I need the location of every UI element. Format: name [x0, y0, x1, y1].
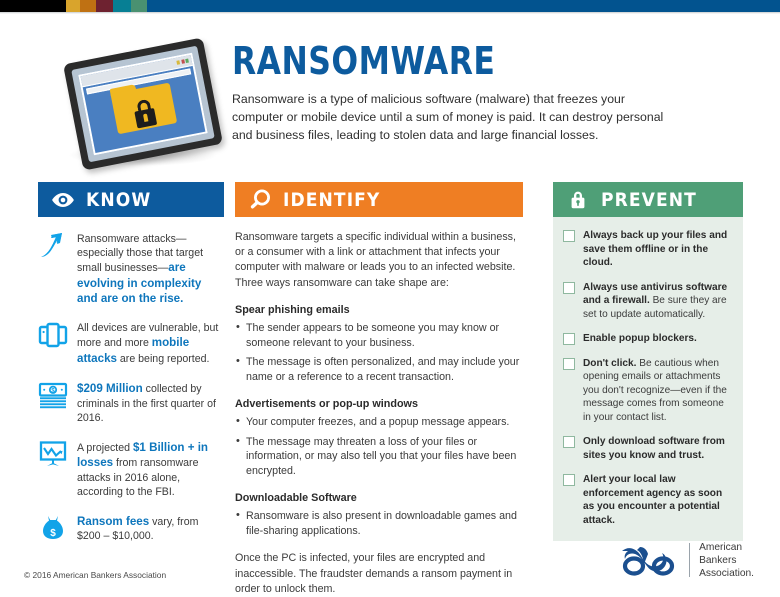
hero-section: RANSOMWARE Ransomware is a type of malic… [0, 36, 780, 176]
topbar-segment-gold [66, 0, 80, 12]
know-item-text-plain: All devices are vulnerable, but more and… [77, 322, 218, 349]
column-identify: IDENTIFY Ransomware targets a specific i… [235, 182, 523, 597]
trending-up-arrow-icon [38, 231, 68, 261]
footer: © 2016 American Bankers Association Amer… [0, 538, 780, 588]
padlock-body [134, 108, 157, 129]
locked-folder-icon [109, 77, 177, 134]
know-item-text: All devices are vulnerable, but more and… [77, 320, 224, 366]
magnifier-icon [247, 187, 273, 213]
window-close-icon [181, 59, 185, 63]
prevent-item-text: Always use antivirus software and a fire… [583, 281, 733, 322]
prevent-checklist-item[interactable]: Alert your local law enforcement agency … [563, 473, 733, 527]
prevent-checklist-item[interactable]: Always back up your files and save them … [563, 229, 733, 270]
know-item: $ $209 Million collected by criminals in… [38, 380, 224, 425]
prevent-item-bold: Enable popup blockers. [583, 333, 697, 344]
banknote-icon: $ [38, 380, 68, 410]
section-header-prevent: PREVENT [553, 182, 743, 217]
window-maximize-icon [185, 59, 189, 63]
prevent-checklist-item[interactable]: Always use antivirus software and a fire… [563, 281, 733, 322]
checkbox-icon[interactable] [563, 333, 575, 345]
section-header-know-label: KNOW [86, 189, 151, 211]
eye-icon [50, 187, 76, 213]
top-color-bar [0, 0, 780, 12]
copyright-text: © 2016 American Bankers Association [24, 570, 166, 580]
prevent-checklist-item[interactable]: Don't click. Be cautious when opening em… [563, 357, 733, 425]
identify-group-heading: Spear phishing emails [235, 304, 523, 316]
identify-bullet-list: Your computer freezes, and a popup messa… [235, 415, 523, 479]
topbar-segment-red [96, 0, 113, 12]
checkbox-icon[interactable] [563, 282, 575, 294]
prevent-item-text: Only download software from sites you kn… [583, 435, 733, 462]
know-items-list: Ransomware attacks—especially those that… [38, 231, 224, 543]
prevent-item-text: Don't click. Be cautious when opening em… [583, 357, 733, 425]
know-item: All devices are vulnerable, but more and… [38, 320, 224, 366]
know-item-text-bold: Ransom fees [77, 515, 149, 528]
prevent-item-bold: Always back up your files and save them … [583, 230, 727, 268]
know-item-text: A projected $1 Billion + in losses from … [77, 439, 224, 499]
section-header-prevent-label: PREVENT [601, 189, 697, 211]
identify-bullet: The sender appears to be someone you may… [235, 321, 523, 351]
identify-bullet-list: Ransomware is also present in downloadab… [235, 509, 523, 539]
section-header-identify-label: IDENTIFY [283, 189, 380, 211]
logo-divider [689, 543, 690, 577]
checkbox-icon[interactable] [563, 230, 575, 242]
prevent-item-bold: Only download software from sites you kn… [583, 436, 725, 461]
aba-logo: American Bankers Association. [618, 541, 754, 580]
identify-bullet: Your computer freezes, and a popup messa… [235, 415, 523, 430]
prevent-item-text: Always back up your files and save them … [583, 229, 733, 270]
browser-window-icon [78, 53, 208, 156]
know-item-text-bold: $209 Million [77, 382, 143, 395]
hero-intro-text: Ransomware is a type of malicious softwa… [232, 90, 667, 145]
identify-bullet-list: The sender appears to be someone you may… [235, 321, 523, 385]
prevent-item-bold: Alert your local law enforcement agency … [583, 474, 722, 526]
prevent-checklist-panel: Always back up your files and save them … [553, 217, 743, 541]
mobile-device-icon [38, 320, 68, 350]
section-header-know: KNOW [38, 182, 224, 217]
lock-icon [565, 187, 591, 213]
know-item-text: $209 Million collected by criminals in t… [77, 380, 224, 425]
topbar-segment-black [0, 0, 66, 12]
checkbox-icon[interactable] [563, 474, 575, 486]
content-columns: KNOW Ransomware attacks—especially those… [0, 182, 780, 532]
identify-intro-text: Ransomware targets a specific individual… [235, 230, 523, 291]
identify-bullet: The message may threaten a loss of your … [235, 435, 523, 479]
identify-group-heading: Advertisements or pop-up windows [235, 398, 523, 410]
column-know: KNOW Ransomware attacks—especially those… [38, 182, 224, 543]
topbar-segment-teal [113, 0, 131, 12]
topbar-shadow [0, 12, 780, 14]
prevent-item-text: Enable popup blockers. [583, 332, 697, 346]
prevent-item-text: Alert your local law enforcement agency … [583, 473, 733, 527]
aba-wordmark-line1: American [699, 541, 754, 554]
section-header-identify: IDENTIFY [235, 182, 523, 217]
padlock-icon [132, 98, 157, 128]
aba-wordmark: American Bankers Association. [699, 541, 754, 580]
identify-bullet: The message is often personalized, and m… [235, 355, 523, 385]
topbar-segment-green [131, 0, 147, 12]
know-item-text-tail: are being reported. [117, 353, 209, 365]
checkbox-icon[interactable] [563, 358, 575, 370]
prevent-item-bold: Don't click. [583, 358, 636, 369]
prevent-checklist-item[interactable]: Enable popup blockers. [563, 332, 733, 346]
tablet-bezel [71, 46, 215, 163]
know-item: Ransomware attacks—especially those that… [38, 231, 224, 306]
know-item-text-plain: A projected [77, 442, 133, 454]
know-item: A projected $1 Billion + in losses from … [38, 439, 224, 499]
topbar-segment-orange [80, 0, 96, 12]
prevent-checklist-item[interactable]: Only download software from sites you kn… [563, 435, 733, 462]
identify-group-heading: Downloadable Software [235, 492, 523, 504]
chart-decline-icon [38, 439, 68, 469]
column-prevent: PREVENT Always back up your files and sa… [553, 182, 743, 541]
know-item-text: Ransomware attacks—especially those that… [77, 231, 224, 306]
identify-bullet: Ransomware is also present in downloadab… [235, 509, 523, 539]
tablet-ransomware-illustration [60, 44, 230, 174]
browser-window-controls [176, 59, 189, 65]
window-minimize-icon [176, 60, 180, 64]
padlock-keyhole [143, 113, 148, 122]
aba-wordmark-line2: Bankers [699, 554, 754, 567]
aba-wordmark-line3: Association. [699, 567, 754, 580]
checkbox-icon[interactable] [563, 436, 575, 448]
topbar-segment-blue [147, 0, 780, 12]
aba-infinity-mark-icon [618, 542, 680, 578]
page-title: RANSOMWARE [232, 42, 495, 80]
